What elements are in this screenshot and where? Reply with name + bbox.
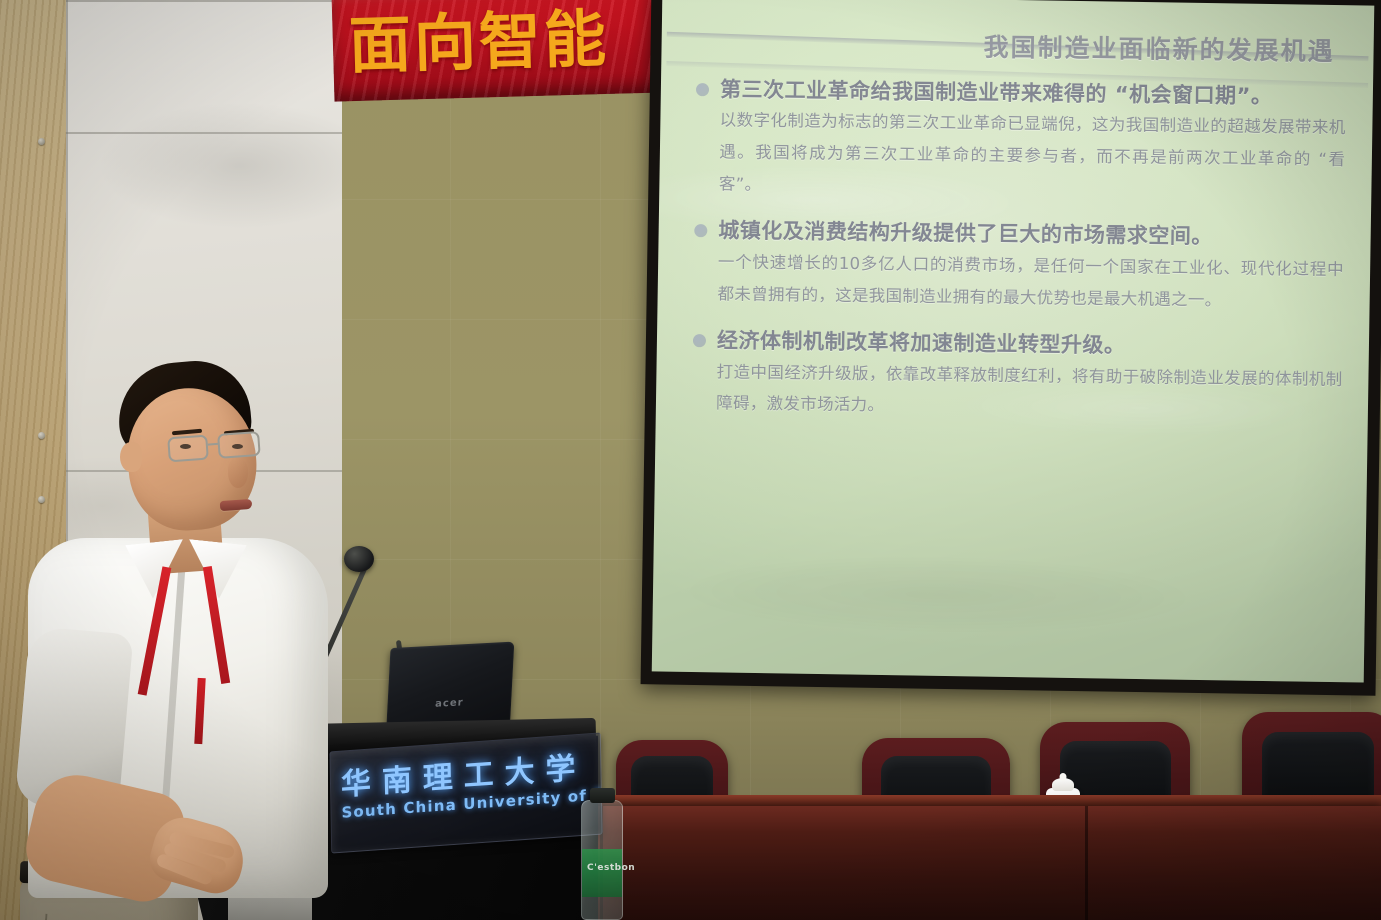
slide-title: 我国制造业面临新的发展机遇 xyxy=(696,2,1347,68)
bullet-dot-icon xyxy=(694,225,707,238)
lectern-nameplate: 华南理工大学 South China University of Technol… xyxy=(329,732,602,853)
speaker-person: 中国机械工程学会年会 参会证 VIP 2014 xyxy=(0,330,360,920)
wall-screw-icon xyxy=(38,138,45,145)
speaker-ear xyxy=(120,442,142,472)
photo-scene: 面向智能 研 我国制造业面临新的发展机遇 第三次工业革命给我国制造业带来难得的 … xyxy=(0,0,1381,920)
bullet-dot-icon xyxy=(696,83,709,96)
eyeglass-lens-left xyxy=(167,435,209,463)
bullet-body-text: 以数字化制造为标志的第三次工业革命已显端倪，这为我国制造业的超越发展带来机遇。我… xyxy=(719,105,1346,208)
speaker-nose xyxy=(228,458,248,488)
table-seam xyxy=(1085,806,1088,920)
laptop-brand-logo: acer xyxy=(435,698,464,711)
eyeglass-lens-right xyxy=(217,431,261,459)
bullet-dot-icon xyxy=(693,334,706,347)
water-bottle: C'estbon xyxy=(581,800,623,920)
slide-bullet-item: 城镇化及消费结构升级提供了巨大的市场需求空间。 一个快速增长的10多亿人口的消费… xyxy=(693,216,1344,318)
slide-bullet-list: 第三次工业革命给我国制造业带来难得的 “机会窗口期”。 以数字化制造为标志的第三… xyxy=(692,74,1346,427)
slide-bullet-item: 经济体制机制改革将加速制造业转型升级。 打造中国经济升级版，依靠改革释放制度红利… xyxy=(692,325,1343,427)
bullet-body-text: 打造中国经济升级版，依靠改革释放制度红利，将有助于破除制造业发展的体制机制障碍，… xyxy=(716,356,1343,427)
slide-bullet-item: 第三次工业革命给我国制造业带来难得的 “机会窗口期”。 以数字化制造为标志的第三… xyxy=(695,74,1346,207)
projection-screen-surface: 我国制造业面临新的发展机遇 第三次工业革命给我国制造业带来难得的 “机会窗口期”… xyxy=(652,0,1375,683)
presentation-slide: 我国制造业面临新的发展机遇 第三次工业革命给我国制造业带来难得的 “机会窗口期”… xyxy=(653,0,1373,681)
bottle-brand-text: C'estbon xyxy=(587,863,635,873)
bottle-cap xyxy=(590,788,615,803)
speaker-mouth xyxy=(220,499,253,511)
bottle-label: C'estbon xyxy=(582,849,622,897)
projection-screen-frame: 我国制造业面临新的发展机遇 第三次工业革命给我国制造业带来难得的 “机会窗口期”… xyxy=(641,0,1381,696)
bullet-body-text: 一个快速增长的10多亿人口的消费市场，是任何一个国家在工业化、现代化过程中都未曾… xyxy=(717,246,1344,317)
banner-left-text: 面向智能 xyxy=(332,0,665,97)
red-banner-left: 面向智能 xyxy=(332,0,665,102)
